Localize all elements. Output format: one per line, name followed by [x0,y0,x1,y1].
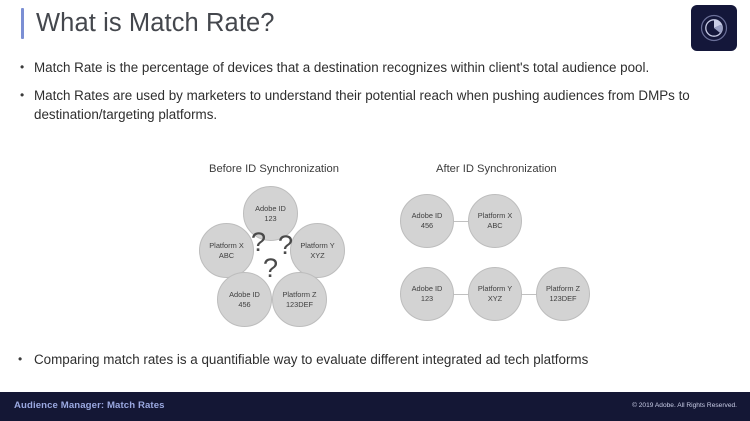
title-accent-bar [21,8,24,39]
node-label-line1: Adobe ID [229,290,260,300]
bullet-text: Match Rates are used by marketers to und… [34,86,700,124]
footer-bar: Audience Manager: Match Rates © 2019 Ado… [0,392,750,421]
node-label-line2: 123DEF [549,294,576,304]
bullet-marker: • [20,58,34,77]
node-label-line2: 123DEF [286,300,313,310]
node-adobe-id-123-after: Adobe ID 123 [400,267,454,321]
page-title: What is Match Rate? [36,9,275,38]
list-item: • Match Rates are used by marketers to u… [0,86,700,124]
bullet-marker: • [18,350,34,369]
diagram-area: Before ID Synchronization After ID Synch… [0,160,750,340]
node-platform-x-abc: Platform X ABC [199,223,254,278]
node-label-line1: Platform Z [546,284,580,294]
bullet-text: Match Rate is the percentage of devices … [34,58,659,77]
diagram-heading-before: Before ID Synchronization [209,163,339,175]
node-label-line2: XYZ [488,294,502,304]
slide-canvas: What is Match Rate? • Match Rate is the … [0,0,750,421]
top-bullet-list: • Match Rate is the percentage of device… [0,58,700,133]
node-label-line1: Platform Y [300,241,334,251]
node-platform-y-xyz: Platform Y XYZ [290,223,345,278]
node-platform-x-abc-after: Platform X ABC [468,194,522,248]
node-label-line2: ABC [219,251,234,261]
node-label-line1: Adobe ID [255,204,286,214]
node-label-line1: Adobe ID [412,211,443,221]
pie-chart-circle-icon [699,13,729,43]
diagram-heading-after: After ID Synchronization [436,163,557,175]
footer-copyright: © 2019 Adobe. All Rights Reserved. [632,402,737,409]
node-label-line2: ABC [487,221,502,231]
node-label-line2: 456 [421,221,433,231]
node-platform-z-123def-after: Platform Z 123DEF [536,267,590,321]
node-label-line1: Platform X [209,241,244,251]
brand-logo-badge [691,5,737,51]
list-item: • Match Rate is the percentage of device… [0,58,700,77]
bullet-text: Comparing match rates is a quantifiable … [34,350,588,369]
node-label-line2: 123 [264,214,276,224]
node-adobe-id-456-after: Adobe ID 456 [400,194,454,248]
footer-title: Audience Manager: Match Rates [14,400,165,411]
node-label-line2: 123 [421,294,433,304]
bullet-marker: • [20,86,34,105]
node-platform-z-123def: Platform Z 123DEF [272,272,327,327]
node-label-line1: Platform X [478,211,513,221]
node-label-line1: Adobe ID [412,284,443,294]
question-mark-icon: ? [251,229,266,256]
title-row: What is Match Rate? [0,8,275,39]
node-platform-y-xyz-after: Platform Y XYZ [468,267,522,321]
question-mark-icon: ? [263,255,278,282]
bottom-bullet: • Comparing match rates is a quantifiabl… [18,350,588,369]
node-label-line1: Platform Z [282,290,316,300]
node-label-line1: Platform Y [478,284,512,294]
node-label-line2: 456 [238,300,250,310]
question-mark-icon: ? [278,232,293,259]
node-label-line2: XYZ [310,251,324,261]
